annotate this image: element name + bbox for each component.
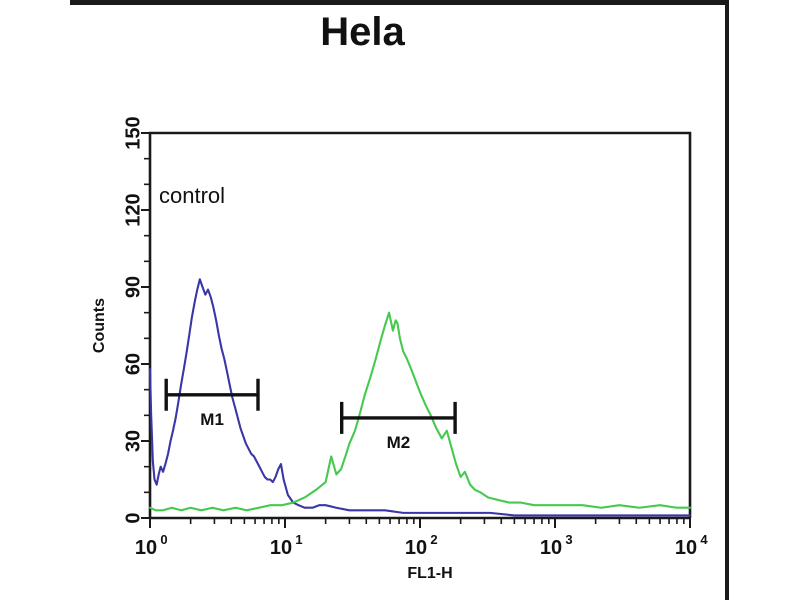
y-axis-tick-label: 150 xyxy=(122,116,144,149)
x-axis-tick-exponent: 2 xyxy=(430,532,437,547)
x-axis-tick-label: 10 xyxy=(405,537,427,559)
flow-cytometry-figure: Hela 0306090120150Counts100101102103104F… xyxy=(0,0,800,600)
x-axis-title: FL1-H xyxy=(407,565,452,582)
y-axis-tick-label: 90 xyxy=(122,276,144,298)
marker-gate-label-m2: M2 xyxy=(387,433,411,452)
y-axis-tick-label: 30 xyxy=(122,430,144,452)
x-axis-tick-exponent: 1 xyxy=(295,532,302,547)
histogram-trace-sample xyxy=(150,313,690,511)
marker-gate-label-m1: M1 xyxy=(200,410,224,429)
x-axis-tick-exponent: 4 xyxy=(700,532,708,547)
histogram-trace-control xyxy=(150,279,690,515)
y-axis-title: Counts xyxy=(91,298,108,353)
y-axis-tick-label: 60 xyxy=(122,353,144,375)
x-axis-tick-label: 10 xyxy=(270,537,292,559)
y-axis-tick-label: 120 xyxy=(122,193,144,226)
x-axis-tick-label: 10 xyxy=(540,537,562,559)
x-axis-tick-exponent: 3 xyxy=(565,532,572,547)
x-axis-tick-exponent: 0 xyxy=(160,532,167,547)
x-axis-tick-label: 10 xyxy=(675,537,697,559)
control-annotation: control xyxy=(159,183,225,208)
x-axis-tick-label: 10 xyxy=(135,537,157,559)
histogram-plot: 0306090120150Counts100101102103104FL1-HM… xyxy=(0,0,800,600)
marker-gate-m1[interactable] xyxy=(166,379,258,411)
y-axis-tick-label: 0 xyxy=(122,512,144,523)
plot-frame xyxy=(150,133,690,518)
marker-gate-m2[interactable] xyxy=(342,402,455,434)
